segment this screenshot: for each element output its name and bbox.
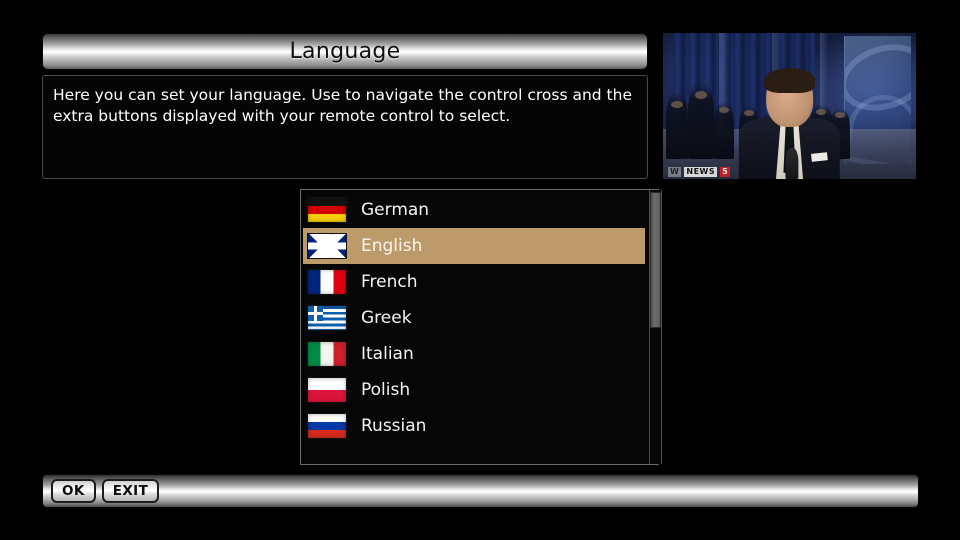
tv-osd-screen: Language Here you can set your language.… — [0, 0, 960, 540]
language-list-item-english[interactable]: English — [303, 228, 645, 264]
language-list-scrollbar-thumb[interactable] — [650, 192, 661, 328]
window-title-bar: Language — [42, 33, 648, 70]
exit-button[interactable]: EXIT — [102, 479, 159, 503]
language-list-item-italian[interactable]: Italian — [303, 336, 645, 372]
channel-logo-bug: W NEWS 5 — [668, 167, 730, 177]
preview-crowd-head — [695, 91, 707, 99]
flag-italy-icon — [307, 341, 347, 367]
ok-button[interactable]: OK — [51, 479, 96, 503]
language-list-panel[interactable]: German English French Greek Italian Poli — [300, 189, 659, 465]
language-list-item-polish[interactable]: Polish — [303, 372, 645, 408]
live-tv-preview[interactable]: W NEWS 5 — [663, 33, 916, 179]
page-title: Language — [290, 41, 401, 63]
language-label: Greek — [361, 310, 412, 327]
language-list-item-french[interactable]: French — [303, 264, 645, 300]
softkey-bar: OK EXIT — [42, 474, 919, 508]
language-label: Russian — [361, 418, 426, 435]
language-list-item-greek[interactable]: Greek — [303, 300, 645, 336]
language-label: German — [361, 202, 429, 219]
preview-reporter-hair — [764, 68, 815, 93]
preview-reporter — [739, 68, 840, 179]
language-label: English — [361, 238, 422, 255]
channel-bug-suffix: 5 — [720, 167, 730, 177]
help-description-text: Here you can set your language. Use to n… — [53, 85, 635, 126]
language-label: Polish — [361, 382, 410, 399]
language-label: French — [361, 274, 418, 291]
language-list-item-german[interactable]: German — [303, 192, 645, 228]
flag-united-kingdom-icon — [307, 233, 347, 259]
language-label: Italian — [361, 346, 414, 363]
flag-greece-icon — [307, 305, 347, 331]
preview-crowd-head — [671, 101, 683, 108]
language-list: German English French Greek Italian Poli — [303, 192, 645, 444]
flag-poland-icon — [307, 377, 347, 403]
channel-bug-prefix: W — [668, 167, 681, 177]
channel-bug-name: NEWS — [684, 167, 717, 177]
help-description-panel: Here you can set your language. Use to n… — [42, 75, 648, 179]
preview-video-frame: W NEWS 5 — [663, 33, 916, 179]
preview-reporter-microphone — [785, 148, 798, 179]
flag-germany-icon — [307, 197, 347, 223]
language-list-item-russian[interactable]: Russian — [303, 408, 645, 444]
flag-france-icon — [307, 269, 347, 295]
flag-russia-icon — [307, 413, 347, 439]
